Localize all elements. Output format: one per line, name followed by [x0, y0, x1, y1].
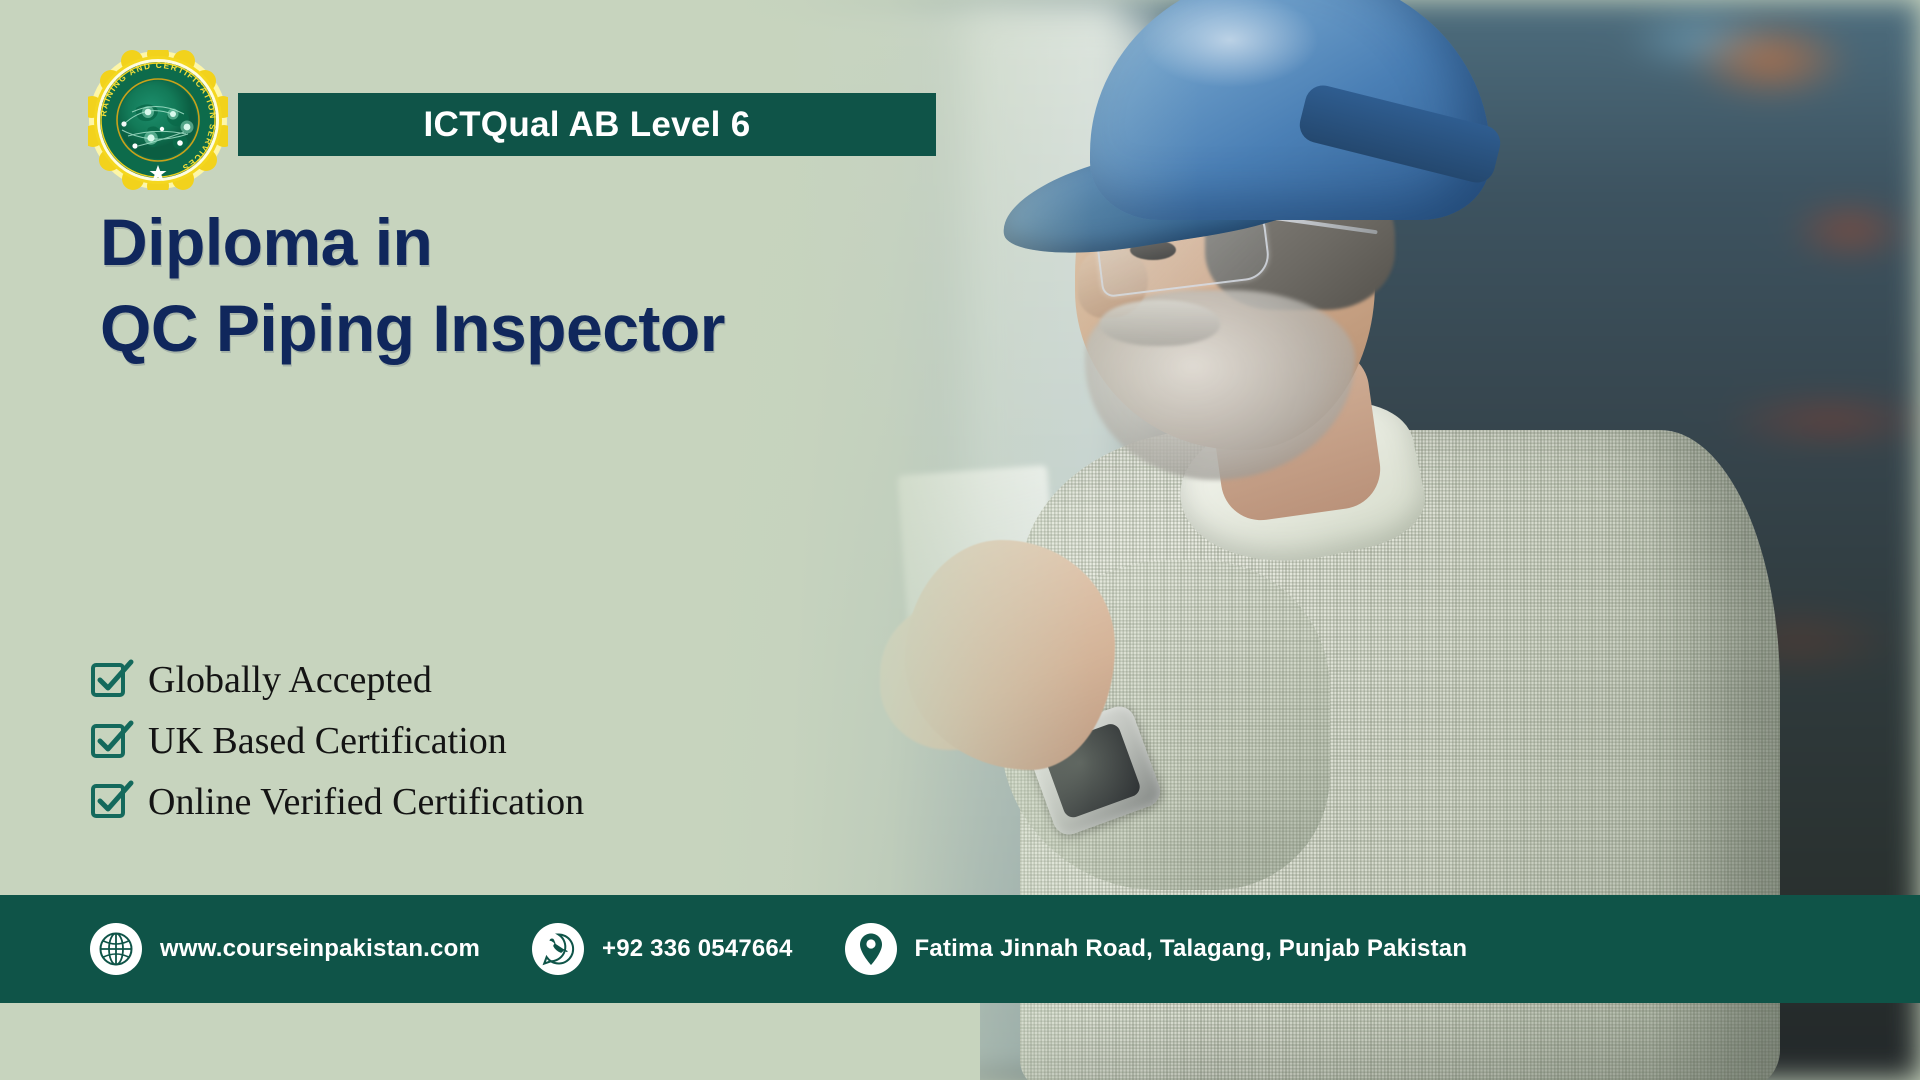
- address-label: Fatima Jinnah Road, Talagang, Punjab Pak…: [915, 935, 1468, 963]
- list-item: Online Verified Certification: [92, 782, 852, 824]
- footer-address[interactable]: Fatima Jinnah Road, Talagang, Punjab Pak…: [845, 923, 1468, 975]
- page-title: Diploma in QC Piping Inspector: [100, 200, 920, 372]
- list-item: UK Based Certification: [92, 721, 852, 763]
- page-title-line2: QC Piping Inspector: [100, 286, 920, 372]
- feature-label: UK Based Certification: [148, 721, 507, 763]
- poster-canvas: GLOBAL TRAINING AND CERTIFICATION SERVIC…: [0, 0, 1920, 1080]
- feature-list: Globally Accepted UK Based Certification: [92, 660, 852, 842]
- footer-phone[interactable]: +92 336 0547664: [532, 923, 793, 975]
- website-label: www.courseinpakistan.com: [160, 935, 480, 963]
- checkbox-checked-icon: [92, 784, 128, 820]
- globe-icon: [90, 923, 142, 975]
- location-pin-icon: [845, 923, 897, 975]
- feature-label: Online Verified Certification: [148, 782, 584, 824]
- checkbox-checked-icon: [92, 663, 128, 699]
- checkbox-checked-icon: [92, 724, 128, 760]
- whatsapp-icon: [532, 923, 584, 975]
- feature-label: Globally Accepted: [148, 660, 432, 702]
- contact-footer: www.courseinpakistan.com +92 336 0547664: [0, 895, 1920, 1003]
- list-item: Globally Accepted: [92, 660, 852, 702]
- bottom-strip: [0, 1003, 980, 1080]
- footer-website[interactable]: www.courseinpakistan.com: [90, 923, 480, 975]
- page-title-line1: Diploma in: [100, 200, 920, 286]
- phone-label: +92 336 0547664: [602, 935, 793, 963]
- certification-logo: GLOBAL TRAINING AND CERTIFICATION SERVIC…: [88, 50, 228, 190]
- level-banner-label: ICTQual AB Level 6: [424, 107, 751, 142]
- level-banner: ICTQual AB Level 6: [238, 93, 936, 156]
